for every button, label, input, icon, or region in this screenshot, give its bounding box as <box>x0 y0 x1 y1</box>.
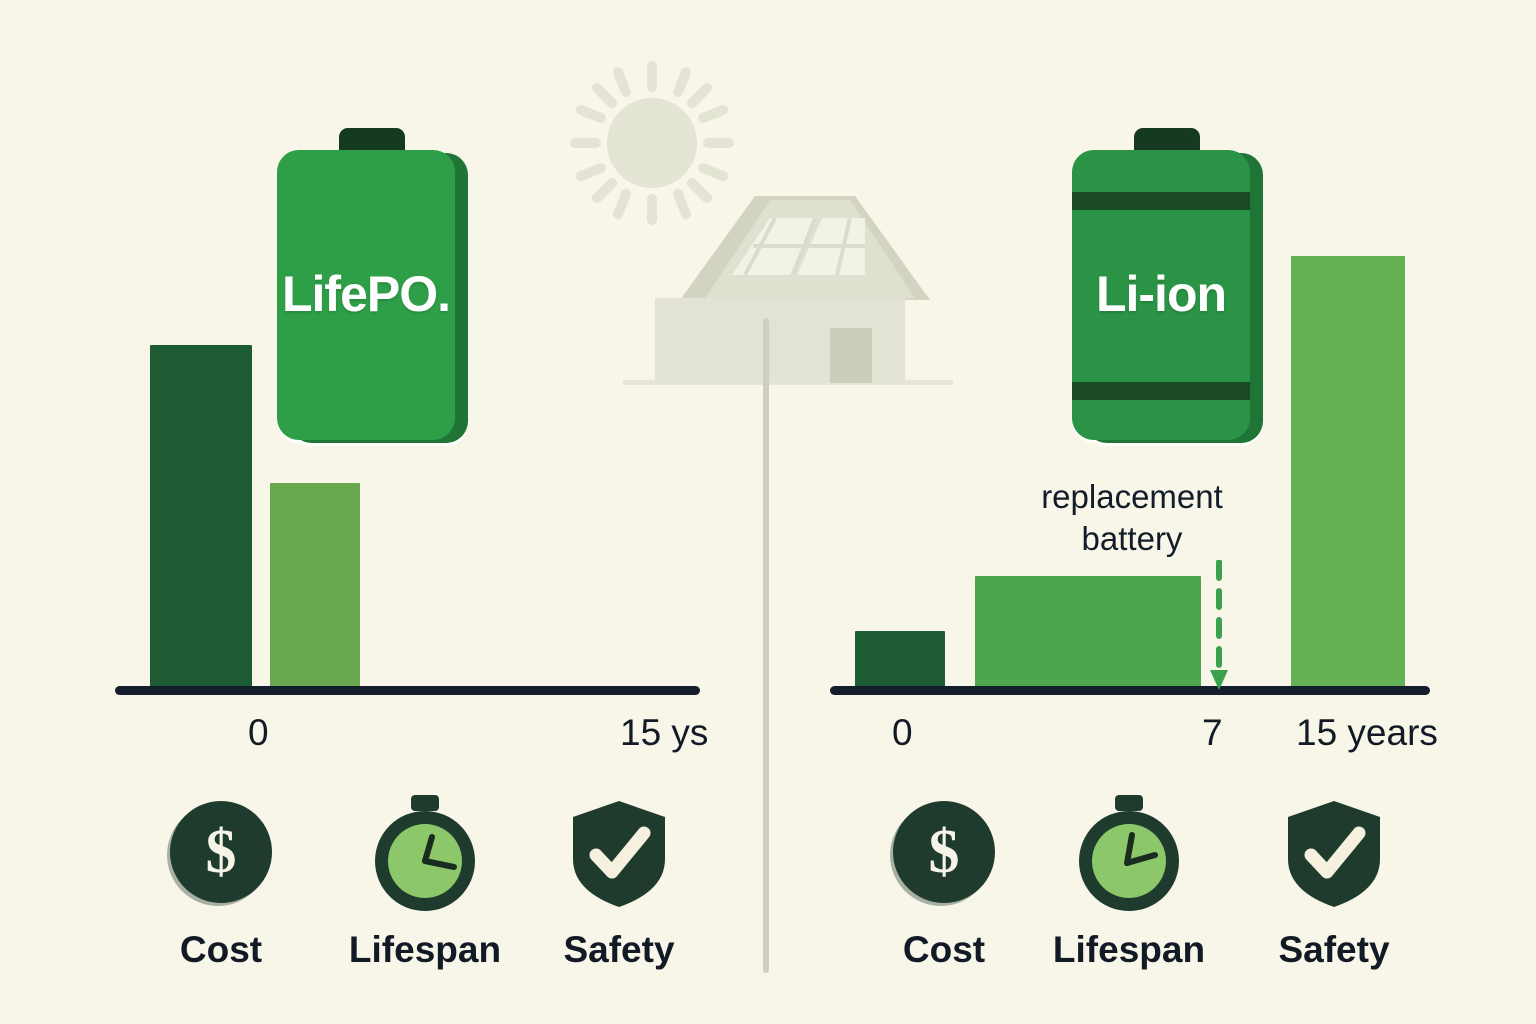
panel-li-ion: Li-ion 0 7 15 years replacement battery <box>766 0 1536 1024</box>
safety-icon <box>560 795 678 913</box>
icon-row-li-ion: $ Cost Lifespan <box>766 795 1536 985</box>
battery-band-top <box>1072 192 1250 210</box>
icon-caption-safety: Safety <box>1239 929 1429 971</box>
stopwatch-hands <box>1127 835 1155 863</box>
lifespan-icon <box>1070 795 1188 913</box>
dashed-down-arrow-icon <box>1204 560 1234 692</box>
battery-li-ion: Li-ion <box>1067 128 1267 446</box>
dollar-glyph: $ <box>885 817 1003 888</box>
axis-tick-left-0: 0 <box>248 712 269 754</box>
lifespan-icon <box>366 795 484 913</box>
icon-caption-safety: Safety <box>524 929 714 971</box>
icon-cell-lifespan-left[interactable]: Lifespan <box>330 795 520 971</box>
battery-body: Li-ion <box>1072 150 1250 440</box>
icon-caption-cost: Cost <box>849 929 1039 971</box>
icon-cell-cost-left[interactable]: $ Cost <box>126 795 316 971</box>
cost-icon: $ <box>162 795 280 913</box>
icon-cell-cost-right[interactable]: $ Cost <box>849 795 1039 971</box>
bar-cost-lifepo4 <box>150 345 252 688</box>
icon-caption-lifespan: Lifespan <box>330 929 520 971</box>
bar-cost-li-ion <box>855 631 945 688</box>
icon-cell-lifespan-right[interactable]: Lifespan <box>1034 795 1224 971</box>
icon-caption-lifespan: Lifespan <box>1034 929 1224 971</box>
arrow-head <box>1210 670 1228 690</box>
replacement-battery-annotation: replacement battery <box>1002 476 1262 560</box>
safety-icon <box>1275 795 1393 913</box>
battery-band-bottom <box>1072 382 1250 400</box>
chart-baseline-left <box>115 686 700 695</box>
panel-lifepo4: LifePO. 0 15 ys $ Cost <box>0 0 766 1024</box>
chart-baseline-right <box>830 686 1430 695</box>
icon-cell-safety-right[interactable]: Safety <box>1239 795 1429 971</box>
battery-body: LifePO. <box>277 150 455 440</box>
axis-tick-right-7: 7 <box>1202 712 1223 754</box>
icon-caption-cost: Cost <box>126 929 316 971</box>
annotation-line-1: replacement <box>1002 476 1262 518</box>
axis-tick-left-15: 15 ys <box>620 712 708 754</box>
icon-row-lifepo4: $ Cost Lifespan <box>0 795 766 985</box>
infographic-canvas: LifePO. 0 15 ys $ Cost <box>0 0 1536 1024</box>
dollar-glyph: $ <box>162 817 280 888</box>
battery-label: LifePO. <box>277 265 455 323</box>
bar-lifespan-first-li-ion <box>975 576 1201 688</box>
axis-tick-right-15: 15 years <box>1296 712 1438 754</box>
bar-lifespan-total-li-ion <box>1291 256 1405 688</box>
axis-tick-right-0: 0 <box>892 712 913 754</box>
bar-lifespan-lifepo4 <box>270 483 360 688</box>
annotation-line-2: battery <box>1002 518 1262 560</box>
stopwatch-hands <box>425 837 454 867</box>
battery-lifepo4: LifePO. <box>272 128 472 446</box>
battery-label: Li-ion <box>1072 265 1250 323</box>
icon-cell-safety-left[interactable]: Safety <box>524 795 714 971</box>
cost-icon: $ <box>885 795 1003 913</box>
